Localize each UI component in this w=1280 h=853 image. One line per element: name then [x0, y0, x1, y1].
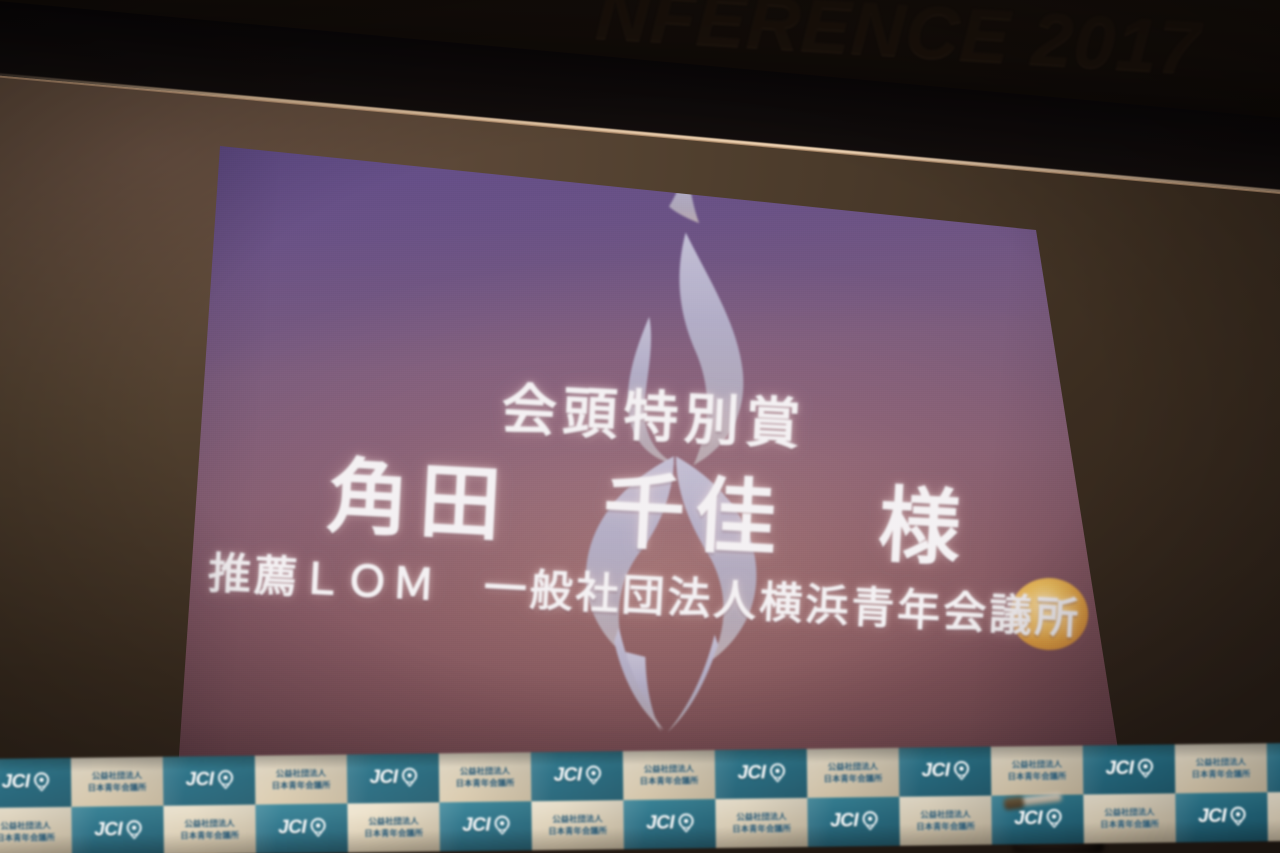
org-name-line-2: 日本青年会議所 [548, 825, 607, 838]
jci-logo: JCI [1198, 805, 1245, 828]
jci-pin-icon [862, 811, 877, 830]
banner-cell-org: 公益社団法人日本青年会議所 [347, 802, 440, 852]
org-name-line-2: 日本青年会議所 [732, 823, 791, 836]
org-name-line-1: 公益社団法人 [1008, 758, 1067, 771]
org-name: 公益社団法人日本青年会議所 [916, 808, 975, 832]
org-name-line-2: 日本青年会議所 [88, 781, 147, 794]
org-name-line-1: 公益社団法人 [88, 770, 147, 783]
banner-cell-org: 公益社団法人日本青年会議所 [991, 746, 1084, 796]
jci-wordmark: JCI [1, 771, 29, 793]
banner-cell-logo: JCI [715, 749, 808, 799]
org-name-line-2: 日本青年会議所 [0, 832, 55, 845]
org-name: 公益社団法人日本青年会議所 [824, 761, 883, 785]
jci-logo: JCI [185, 768, 232, 791]
jci-logo: JCI [1, 771, 48, 794]
org-name-line-2: 日本青年会議所 [1008, 770, 1067, 783]
jci-pin-icon [126, 820, 141, 839]
org-name-line-2: 日本青年会議所 [456, 777, 515, 790]
jci-pin-icon [585, 765, 600, 784]
org-name-line-1: 公益社団法人 [1192, 756, 1251, 769]
jci-pin-icon [310, 818, 325, 837]
jci-pin-icon [678, 813, 693, 832]
org-name-line-2: 日本青年会議所 [180, 829, 239, 842]
org-name-line-1: 公益社団法人 [456, 765, 515, 778]
jci-pin-icon [34, 772, 49, 791]
banner-cell-org: 公益社団法人日本青年会議所 [899, 796, 992, 846]
jci-pin-icon [1230, 807, 1245, 826]
photo-scene: NFERENCE 2017 [0, 0, 1280, 853]
banner-cell-org: 公益社団法人日本青年会議所 [531, 800, 624, 850]
org-name-line-2: 日本青年会議所 [824, 772, 883, 785]
banner-cell-logo: JCI [71, 806, 164, 853]
org-name-line-2: 日本青年会議所 [640, 775, 699, 788]
jci-pin-icon [678, 813, 693, 832]
org-name-line-1: 公益社団法人 [640, 763, 699, 776]
jci-pin-icon [769, 763, 784, 782]
org-name-line-1: 公益社団法人 [824, 761, 883, 774]
jci-wordmark: JCI [462, 814, 490, 836]
org-name: 公益社団法人日本青年会議所 [1100, 806, 1159, 830]
banner-cell-org: 公益社団法人日本青年会議所 [1083, 793, 1176, 843]
banner-cell-logo: JCI [1175, 792, 1268, 842]
org-name-line-2: 日本青年会議所 [1192, 768, 1251, 781]
banner-cell-logo: JCI [0, 758, 71, 808]
jci-pin-icon [1137, 759, 1152, 778]
banner-cell-logo: JCI [439, 801, 532, 851]
jci-wordmark: JCI [185, 769, 213, 791]
jci-wordmark: JCI [830, 810, 858, 832]
jci-logo: JCI [830, 810, 877, 833]
jci-pin-icon [401, 768, 416, 787]
jci-pin-icon [217, 770, 232, 789]
jci-logo: JCI [462, 814, 509, 837]
jci-wordmark: JCI [1105, 757, 1133, 779]
banner-cell-org: 公益社団法人日本青年会議所 [1267, 791, 1280, 841]
jci-logo: JCI [369, 766, 416, 789]
org-name: 公益社団法人日本青年会議所 [456, 765, 515, 789]
microphone-head [1003, 796, 1024, 810]
jci-wordmark: JCI [921, 760, 949, 782]
jci-pin-icon [494, 816, 509, 835]
org-name: 公益社団法人日本青年会議所 [640, 763, 699, 787]
jci-pin-icon [126, 820, 141, 839]
banner-cell-logo: JCI [899, 747, 992, 797]
org-name: 公益社団法人日本青年会議所 [1192, 756, 1251, 780]
jci-pin-icon [769, 763, 784, 782]
jci-step-and-repeat-banner: JCI公益社団法人日本青年会議所JCI公益社団法人日本青年会議所JCI公益社団法… [0, 743, 1280, 853]
jci-pin-icon [585, 765, 600, 784]
banner-cell-logo: JCI [1267, 743, 1280, 793]
banner-cell-org: 公益社団法人日本青年会議所 [623, 750, 716, 800]
banner-cell-logo: JCI [807, 797, 900, 847]
jci-pin-icon [401, 768, 416, 787]
jci-wordmark: JCI [737, 762, 765, 784]
jci-wordmark: JCI [553, 764, 581, 786]
org-name-line-2: 日本青年会議所 [364, 827, 423, 840]
org-name-line-1: 公益社団法人 [364, 815, 423, 828]
banner-cell-logo: JCI [623, 799, 716, 849]
jci-logo: JCI [278, 816, 325, 839]
org-name-line-2: 日本青年会議所 [916, 820, 975, 833]
jci-wordmark: JCI [646, 812, 674, 834]
jci-pin-icon [862, 811, 877, 830]
banner-cell-logo: JCI [531, 751, 624, 801]
banner-cell-org: 公益社団法人日本青年会議所 [163, 805, 256, 853]
org-name-line-1: 公益社団法人 [548, 813, 607, 826]
jci-pin-icon [494, 816, 509, 835]
org-name: 公益社団法人日本青年会議所 [1008, 758, 1067, 782]
jci-logo: JCI [646, 812, 693, 835]
banner-cell-org: 公益社団法人日本青年会議所 [715, 798, 808, 848]
jci-pin-icon [1137, 759, 1152, 778]
banner-checkerboard: JCI公益社団法人日本青年会議所JCI公益社団法人日本青年会議所JCI公益社団法… [0, 743, 1280, 853]
banner-cell-logo: JCI [1083, 744, 1176, 794]
jci-pin-icon [953, 761, 968, 780]
jci-wordmark: JCI [94, 819, 122, 841]
banner-cell-logo: JCI [255, 804, 348, 853]
jci-logo: JCI [553, 764, 600, 787]
org-name: 公益社団法人日本青年会議所 [548, 813, 607, 837]
org-name-line-2: 日本青年会議所 [272, 779, 331, 792]
jci-pin-icon [1046, 809, 1061, 828]
slide-content: 会頭特別賞 角田 千佳 様 推薦ＬＯＭ 一般社団法人横浜青年会議所 [160, 122, 1143, 826]
jci-pin-icon [34, 772, 49, 791]
jci-wordmark: JCI [369, 766, 397, 788]
org-name: 公益社団法人日本青年会議所 [364, 815, 423, 839]
jci-logo: JCI [737, 762, 784, 785]
jci-pin-icon [1046, 809, 1061, 828]
org-name-line-1: 公益社団法人 [1100, 806, 1159, 819]
banner-cell-org: 公益社団法人日本青年会議所 [807, 748, 900, 798]
banner-cell-logo: JCI [163, 756, 256, 806]
banner-cell-org: 公益社団法人日本青年会議所 [439, 752, 532, 802]
jci-logo: JCI [921, 759, 968, 782]
microphone-body [1021, 793, 1062, 807]
banner-cell-org: 公益社団法人日本青年会議所 [1175, 743, 1268, 793]
org-name: 公益社団法人日本青年会議所 [180, 817, 239, 841]
org-name: 公益社団法人日本青年会議所 [88, 770, 147, 794]
org-name-line-1: 公益社団法人 [272, 767, 331, 780]
jci-pin-icon [1230, 807, 1245, 826]
jci-pin-icon [217, 770, 232, 789]
jci-pin-icon [953, 761, 968, 780]
banner-cell-org: 公益社団法人日本青年会議所 [0, 807, 72, 853]
banner-cell-org: 公益社団法人日本青年会議所 [255, 755, 348, 805]
jci-logo: JCI [1105, 757, 1152, 780]
org-name: 公益社団法人日本青年会議所 [272, 767, 331, 791]
org-name-line-1: 公益社団法人 [180, 817, 239, 830]
org-name-line-2: 日本青年会議所 [1100, 818, 1159, 831]
org-name-line-1: 公益社団法人 [732, 811, 791, 824]
banner-cell-logo: JCI [347, 753, 440, 803]
org-name: 公益社団法人日本青年会議所 [0, 820, 55, 844]
jci-wordmark: JCI [1198, 805, 1226, 827]
org-name-line-1: 公益社団法人 [0, 820, 55, 833]
org-name-line-1: 公益社団法人 [916, 808, 975, 821]
jci-wordmark: JCI [278, 817, 306, 839]
org-name: 公益社団法人日本青年会議所 [732, 811, 791, 835]
jci-pin-icon [310, 818, 325, 837]
jci-logo: JCI [94, 819, 141, 842]
banner-cell-org: 公益社団法人日本青年会議所 [71, 757, 164, 807]
